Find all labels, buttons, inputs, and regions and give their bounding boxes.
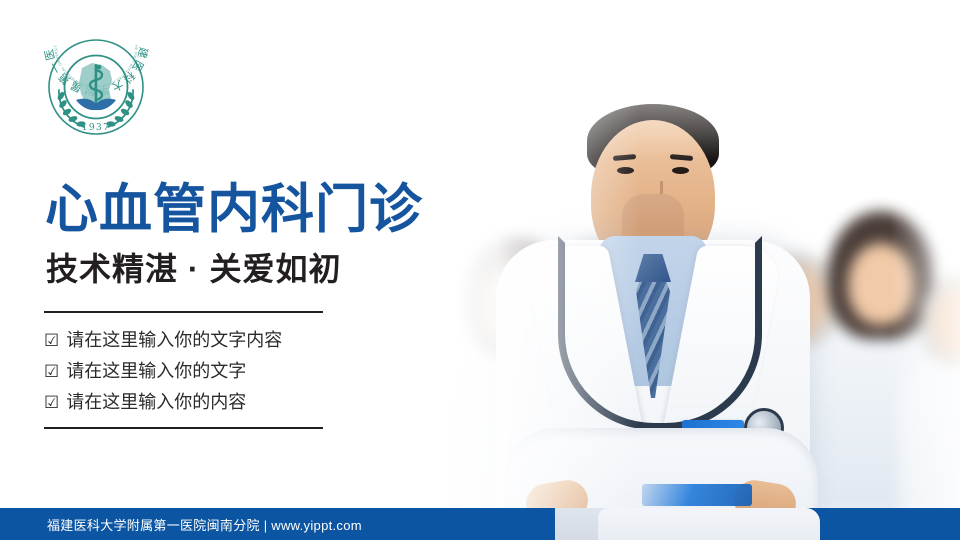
list-item: ☑ 请在这里输入你的文字 xyxy=(44,356,344,387)
checkbox-checked-icon: ☑ xyxy=(44,357,59,387)
list-item-label: 请在这里输入你的文字内容 xyxy=(66,325,282,355)
logo-year: 1937 xyxy=(82,123,111,133)
coat-overlap-right xyxy=(598,508,820,540)
doctor-team-photo xyxy=(430,0,960,540)
hospital-logo: 福建医科大学附属第一医院 THE FIRST AFFILIATED HOSPIT… xyxy=(42,28,150,138)
presentation-slide: 福建医科大学附属第一医院 THE FIRST AFFILIATED HOSPIT… xyxy=(0,0,960,540)
list-item-label: 请在这里输入你的内容 xyxy=(66,387,246,417)
checkbox-checked-icon: ☑ xyxy=(44,326,59,356)
divider-top xyxy=(44,311,323,313)
doctor-white-coat xyxy=(496,240,810,540)
stethoscope-tubing xyxy=(558,236,762,430)
footer-text: 福建医科大学附属第一医院闽南分院 | www.yippt.com xyxy=(47,508,362,540)
doctor-name-tag xyxy=(642,484,752,506)
list-item: ☑ 请在这里输入你的文字内容 xyxy=(44,325,344,356)
page-subtitle: 技术精湛 · 关爱如初 xyxy=(46,252,341,288)
divider-bottom xyxy=(44,427,323,429)
checkbox-checked-icon: ☑ xyxy=(44,388,59,418)
bullet-list: ☑ 请在这里输入你的文字内容 ☑ 请在这里输入你的文字 ☑ 请在这里输入你的内容 xyxy=(44,325,344,418)
foreground-doctor xyxy=(488,0,818,540)
page-title: 心血管内科门诊 xyxy=(45,181,423,238)
background-person xyxy=(900,215,960,515)
list-item-label: 请在这里输入你的文字 xyxy=(66,356,246,386)
list-item: ☑ 请在这里输入你的内容 xyxy=(44,387,344,418)
